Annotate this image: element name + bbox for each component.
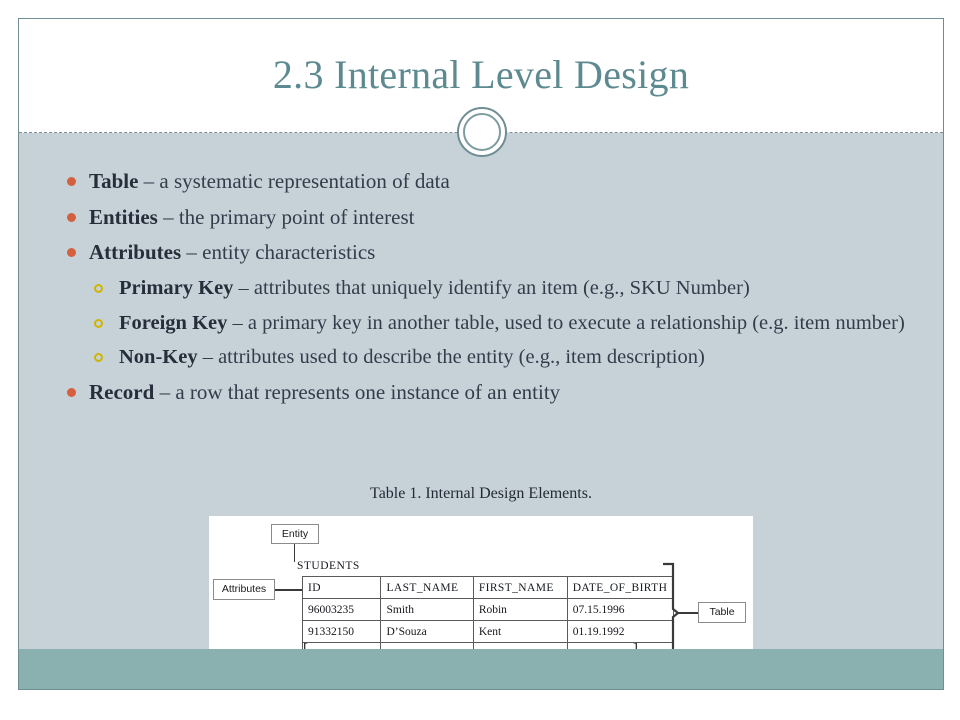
list-item: Non-Key – attributes used to describe th… xyxy=(41,341,927,374)
list-item-term: Table xyxy=(89,169,144,193)
column-header: LAST_NAME xyxy=(381,577,473,599)
table-cell: 91332150 xyxy=(303,621,381,643)
footer-band xyxy=(19,649,943,689)
list-item-dash: – xyxy=(160,380,176,404)
table-cell: Robin xyxy=(473,599,567,621)
callout-table: Table xyxy=(698,602,746,623)
table-row: 96003235 Smith Robin 07.15.1996 xyxy=(303,599,674,621)
list-item: Entities – the primary point of interest xyxy=(41,201,927,235)
bullet-dot-icon xyxy=(67,388,76,397)
list-item-dash: – xyxy=(233,312,248,334)
list-item-dash: – xyxy=(203,346,218,368)
column-header: ID xyxy=(303,577,381,599)
list-item-text: entity characteristics xyxy=(202,240,375,264)
connector-entity xyxy=(294,544,295,562)
entity-name-label: STUDENTS xyxy=(297,560,360,572)
table-cell: 96003235 xyxy=(303,599,381,621)
table-cell: 07.15.1996 xyxy=(567,599,673,621)
table-cell: D’Souza xyxy=(381,621,473,643)
bullet-circle-icon xyxy=(94,284,103,293)
list-item-dash: – xyxy=(239,277,254,299)
bullet-dot-icon xyxy=(67,177,76,186)
slide-body: Table – a systematic representation of d… xyxy=(19,133,943,689)
list-item-term: Foreign Key xyxy=(119,312,233,334)
list-item-term: Non-Key xyxy=(119,346,203,368)
page-title: 2.3 Internal Level Design xyxy=(19,51,943,98)
list-item-text: attributes used to describe the entity (… xyxy=(218,346,705,368)
list-item-dash: – xyxy=(186,240,202,264)
list-item-term: Entities xyxy=(89,205,163,229)
column-header: FIRST_NAME xyxy=(473,577,567,599)
bullet-list: Table – a systematic representation of d… xyxy=(41,165,927,412)
table-cell: Kent xyxy=(473,621,567,643)
bullet-circle-icon xyxy=(94,353,103,362)
list-item-text: the primary point of interest xyxy=(179,205,415,229)
table-row: 91332150 D’Souza Kent 01.19.1992 xyxy=(303,621,674,643)
bullet-circle-icon xyxy=(94,319,103,328)
list-item-text: a systematic representation of data xyxy=(159,169,449,193)
figure-caption: Table 1. Internal Design Elements. xyxy=(19,485,943,503)
callout-entity: Entity xyxy=(271,524,319,544)
table-cell: Smith xyxy=(381,599,473,621)
divider-circle-inner-ring-icon xyxy=(463,113,501,151)
list-item: Attributes – entity characteristics xyxy=(41,236,927,270)
list-item-text: attributes that uniquely identify an ite… xyxy=(254,277,750,299)
list-item: Table – a systematic representation of d… xyxy=(41,165,927,199)
table-cell: 01.19.1992 xyxy=(567,621,673,643)
slide-frame: 2.3 Internal Level Design Table – a syst… xyxy=(18,18,944,690)
list-item: Record – a row that represents one insta… xyxy=(41,376,927,410)
connector-attributes xyxy=(275,589,303,591)
list-item-text: a row that represents one instance of an… xyxy=(175,380,560,404)
list-item-text: a primary key in another table, used to … xyxy=(248,312,905,334)
callout-attributes: Attributes xyxy=(213,579,275,600)
list-item-dash: – xyxy=(163,205,179,229)
list-item-term: Attributes xyxy=(89,240,186,264)
divider-circle-ornament-icon xyxy=(457,107,507,157)
list-item: Primary Key – attributes that uniquely i… xyxy=(41,272,927,305)
list-item-term: Record xyxy=(89,380,160,404)
column-header: DATE_OF_BIRTH xyxy=(567,577,673,599)
bullet-dot-icon xyxy=(67,213,76,222)
bullet-dot-icon xyxy=(67,248,76,257)
list-item-dash: – xyxy=(144,169,160,193)
table-header-row: ID LAST_NAME FIRST_NAME DATE_OF_BIRTH xyxy=(303,577,674,599)
list-item-term: Primary Key xyxy=(119,277,239,299)
list-item: Foreign Key – a primary key in another t… xyxy=(41,307,927,340)
connector-table xyxy=(677,612,699,614)
